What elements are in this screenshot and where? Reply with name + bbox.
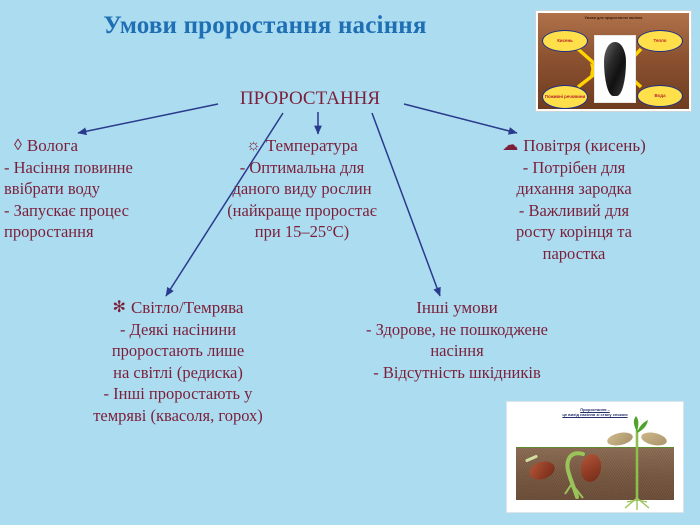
branch-air-title: Повітря (кисень) bbox=[523, 136, 646, 156]
slide-canvas: Умови проростання насіння ПРОРОСТАННЯ ◊ … bbox=[0, 0, 700, 525]
branch-temperature-body: - Оптимальна для даного виду рослин (най… bbox=[196, 157, 408, 243]
oval-oxygen: Кисень bbox=[542, 30, 588, 52]
branch-moisture-body: - Насіння повинне ввібрати воду - Запуск… bbox=[2, 157, 192, 243]
arrow-to-moisture bbox=[78, 104, 218, 133]
oval-water: Вода bbox=[637, 85, 683, 107]
list-item: - Важливий для bbox=[468, 200, 680, 221]
list-item: даного виду рослин bbox=[196, 178, 408, 199]
branch-other-title: Інші умови bbox=[416, 298, 497, 318]
branch-moisture-title: Волога bbox=[27, 136, 78, 156]
branch-air: ☁ Повітря (кисень) - Потрібен для диханн… bbox=[468, 136, 680, 264]
water-drop-icon: ◊ bbox=[14, 138, 22, 154]
list-item: - Інші проростають у bbox=[28, 383, 328, 404]
branch-other-body: - Здорове, не пошкоджене насіння - Відсу… bbox=[322, 319, 592, 383]
germination-photo-frame: Проростання – це вихід насіння зі стану … bbox=[506, 401, 684, 513]
list-item: (найкраще проростає bbox=[196, 200, 408, 221]
branch-other: Інші умови - Здорове, не пошкоджене насі… bbox=[322, 298, 592, 383]
seed-requirements-diagram: Умови для проростання насіння bbox=[535, 10, 692, 112]
list-item: - Насіння повинне bbox=[4, 157, 192, 178]
branch-air-body: - Потрібен для дихання зародка - Важливи… bbox=[468, 157, 680, 264]
list-item: темряві (квасоля, горох) bbox=[28, 405, 328, 426]
center-node-label: ПРОРОСТАННЯ bbox=[240, 88, 380, 109]
branch-other-heading: Інші умови bbox=[322, 298, 592, 318]
oval-heat: Тепло bbox=[637, 30, 683, 52]
list-item: - Потрібен для bbox=[468, 157, 680, 178]
list-item: на світлі (редиска) bbox=[28, 362, 328, 383]
arrow-to-air bbox=[404, 104, 517, 133]
oval-nutrients: Поживні речовини bbox=[542, 85, 588, 109]
seed-diagram-inner: Умови для проростання насіння bbox=[538, 13, 689, 109]
list-item: проростання bbox=[4, 221, 192, 242]
list-item: при 15–25°С) bbox=[196, 221, 408, 242]
air-oxygen-icon: ☁ bbox=[502, 138, 518, 154]
list-item: дихання зародка bbox=[468, 178, 680, 199]
branch-moisture: ◊ Волога - Насіння повинне ввібрати воду… bbox=[2, 136, 192, 243]
list-item: насіння bbox=[322, 340, 592, 361]
branch-temperature-title: Температура bbox=[266, 136, 358, 156]
germination-stages-photo: Проростання – це вихід насіння зі стану … bbox=[495, 397, 695, 515]
list-item: - Здорове, не пошкоджене bbox=[322, 319, 592, 340]
sun-icon: ☼ bbox=[246, 138, 261, 154]
list-item: проростають лише bbox=[28, 340, 328, 361]
branch-light-dark-body: - Деякі насінини проростають лише на сві… bbox=[28, 319, 328, 426]
list-item: - Відсутність шкідників bbox=[322, 362, 592, 383]
seed-photo-frame bbox=[594, 35, 636, 103]
list-item: ввібрати воду bbox=[4, 178, 192, 199]
branch-light-dark: ✻ Світло/Темрява - Деякі насінини пророс… bbox=[28, 298, 328, 426]
branch-moisture-heading: ◊ Волога bbox=[2, 136, 192, 156]
list-item: - Оптимальна для bbox=[196, 157, 408, 178]
stage3-plant-svg bbox=[507, 402, 683, 512]
list-item: росту корінця та bbox=[468, 221, 680, 242]
sparkle-icon: ✻ bbox=[113, 300, 126, 316]
list-item: - Запускає процес bbox=[4, 200, 192, 221]
list-item: - Деякі насінини bbox=[28, 319, 328, 340]
branch-light-dark-title: Світло/Темрява bbox=[131, 298, 244, 318]
list-item: паростка bbox=[468, 243, 680, 264]
branch-temperature-heading: ☼ Температура bbox=[196, 136, 408, 156]
branch-light-dark-heading: ✻ Світло/Темрява bbox=[28, 298, 328, 318]
branch-temperature: ☼ Температура - Оптимальна для даного ви… bbox=[196, 136, 408, 243]
seed-kernel-image bbox=[604, 42, 626, 96]
center-node: ПРОРОСТАННЯ bbox=[220, 88, 400, 110]
branch-air-heading: ☁ Повітря (кисень) bbox=[468, 136, 680, 156]
